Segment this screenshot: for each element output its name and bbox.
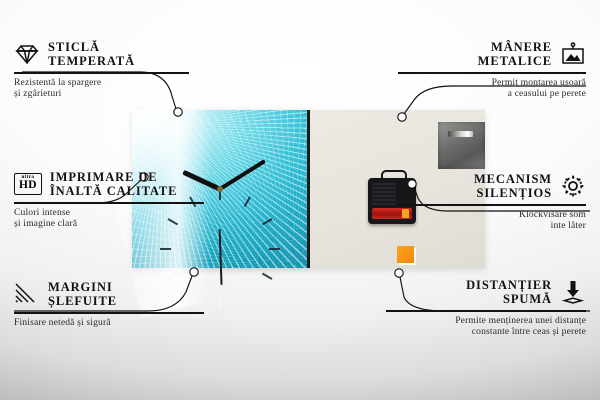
callout-description: Permite menținerea unei distanțe constan…: [386, 315, 586, 338]
callout-header: STICLĂ TEMPERATĂ: [14, 40, 189, 68]
leader-node-sticla: [174, 108, 182, 116]
callout-title: MARGINI ȘLEFUITE: [48, 280, 117, 308]
callout-title-line1: STICLĂ: [48, 40, 100, 54]
callout-title-line1: MECANISM: [474, 172, 552, 186]
divider: [14, 202, 204, 204]
callout-sticla-temperata: STICLĂ TEMPERATĂ Rezistentă la spargere …: [14, 40, 189, 99]
callout-desc-line1: Permit montarea ușoară: [492, 77, 586, 88]
callout-title-line2: SPUMĂ: [503, 292, 552, 306]
callout-header: MARGINI ȘLEFUITE: [14, 280, 204, 308]
callout-header: ultra HD IMPRIMARE DE ÎNALTĂ CALITATE: [14, 170, 204, 198]
callout-description: Finisare netedă și sigură: [14, 317, 204, 328]
diamond-icon: [14, 41, 40, 67]
divider: [398, 72, 586, 74]
ultra-hd-main-label: HD: [19, 180, 37, 192]
callout-desc-line2: și zgârieturi: [14, 88, 62, 99]
divider: [386, 310, 586, 312]
callout-margini-slefuite: MARGINI ȘLEFUITE Finisare netedă și sigu…: [14, 280, 204, 328]
callout-title-line1: DISTANȚIER: [466, 278, 552, 292]
callout-description: Culori intense și imagine clară: [14, 207, 204, 230]
divider: [14, 72, 189, 74]
leader-node-distantier: [395, 269, 403, 277]
picture-hanger-icon: [560, 41, 586, 67]
callout-desc-line2: inte låter: [551, 220, 586, 231]
callout-title-line2: SILENȚIOS: [477, 186, 553, 200]
callout-title: DISTANȚIER SPUMĂ: [466, 278, 552, 306]
callout-title-line1: IMPRIMARE DE: [50, 170, 158, 184]
callout-title: MECANISM SILENȚIOS: [474, 172, 552, 200]
callout-desc-line2: constante între ceas și perete: [472, 326, 586, 337]
callout-manere-metalice: MÂNERE METALICE Permit montarea ușoară a…: [398, 40, 586, 99]
callout-title-line1: MARGINI: [48, 280, 113, 294]
leader-node-margini: [190, 268, 198, 276]
callout-desc-line1: Rezistentă la spargere: [14, 77, 101, 88]
callout-title-line2: ÎNALTĂ CALITATE: [50, 184, 178, 198]
callout-header: DISTANȚIER SPUMĂ: [386, 278, 586, 306]
callout-header: MÂNERE METALICE: [398, 40, 586, 68]
leader-node-manere: [398, 113, 406, 121]
callout-title-line1: MÂNERE: [491, 40, 552, 54]
callout-desc-line2: și imagine clară: [14, 218, 77, 229]
callout-description: Permit montarea ușoară a ceasului pe per…: [398, 77, 586, 100]
arrow-down-pad-icon: [560, 279, 586, 305]
callout-description: Klockvisare som inte låter: [398, 209, 586, 232]
ultra-hd-icon: ultra HD: [14, 173, 42, 195]
callout-title: IMPRIMARE DE ÎNALTĂ CALITATE: [50, 170, 178, 198]
callout-mecanism-silentios: MECANISM SILENȚIOS Klockvisare som inte …: [398, 172, 586, 231]
callout-title-line2: TEMPERATĂ: [48, 54, 135, 68]
callout-title: STICLĂ TEMPERATĂ: [48, 40, 135, 68]
callout-distantier-spuma: DISTANȚIER SPUMĂ Permite menținerea unei…: [386, 278, 586, 337]
callout-header: MECANISM SILENȚIOS: [398, 172, 586, 200]
callout-desc-line1: Permite menținerea unei distanțe: [455, 315, 586, 326]
divider: [14, 312, 204, 314]
callout-title-line2: ȘLEFUITE: [48, 294, 117, 308]
polished-edge-icon: [14, 281, 40, 307]
callout-title: MÂNERE METALICE: [478, 40, 552, 68]
callout-desc-line1: Culori intense: [14, 207, 70, 218]
callout-desc-line1: Klockvisare som: [519, 209, 586, 220]
infographic-canvas: STICLĂ TEMPERATĂ Rezistentă la spargere …: [0, 0, 600, 400]
divider: [398, 204, 586, 206]
callout-description: Rezistentă la spargere și zgârieturi: [14, 77, 189, 100]
callout-title-line2: METALICE: [478, 54, 552, 68]
callout-desc-line1: Finisare netedă și sigură: [14, 317, 111, 328]
callout-desc-line2: a ceasului pe perete: [508, 88, 586, 99]
gear-icon: [560, 173, 586, 199]
callout-imprimare-inalta-calitate: ultra HD IMPRIMARE DE ÎNALTĂ CALITATE Cu…: [14, 170, 204, 229]
